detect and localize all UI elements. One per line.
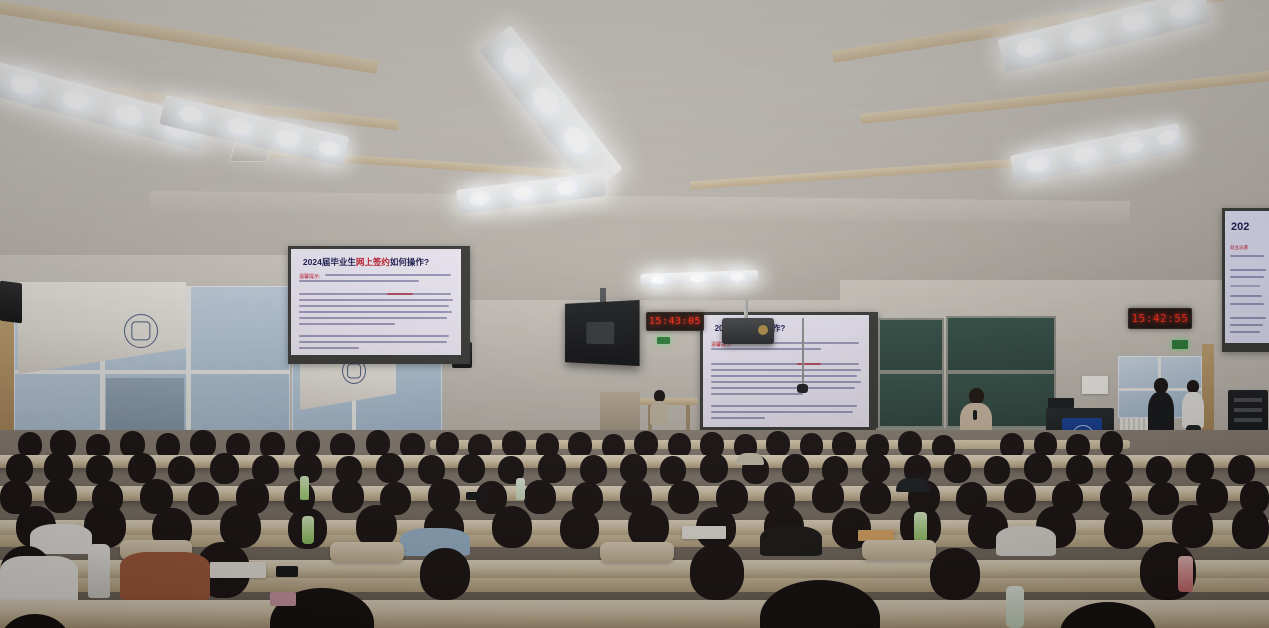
clock-time: 15:43:05 (649, 316, 701, 327)
av-rack-slot (1234, 398, 1262, 402)
slide-red-note: 温馨提示: (299, 273, 320, 280)
hanging-mic (797, 384, 808, 393)
slide-title: 202 (1231, 221, 1267, 233)
wall-speaker (0, 281, 22, 324)
av-rack-slot (1234, 418, 1262, 422)
hanging-cable (802, 318, 804, 388)
front-table (640, 398, 698, 405)
ceiling-light-fixture (455, 164, 609, 226)
front-left-led-clock: 15:43:05 (646, 312, 704, 331)
chalkboard-panel (878, 372, 944, 428)
slide-title-suffix: 如何操作? (390, 257, 429, 267)
left-projection-screen[interactable]: 2024届毕业生网上签约如何操作? 温馨提示: (291, 249, 461, 355)
slide-title: 2024届毕业生网上签约如何操作? (303, 257, 453, 267)
baseball-cap (896, 478, 930, 492)
water-bottle (1006, 586, 1024, 628)
lecture-hall-photo: 2024届毕业生网上签约如何操作? 温馨提示: (0, 0, 1269, 628)
chalkboard-panel (946, 316, 1056, 372)
phone[interactable] (270, 592, 296, 606)
audience-row-nearest (0, 560, 1269, 628)
slide-red-note: 就业派遣 (1230, 245, 1248, 251)
water-bottle (300, 476, 309, 500)
wall-notice (1082, 376, 1108, 394)
podium-monitor (1048, 398, 1074, 408)
phone[interactable] (466, 492, 482, 500)
exit-sign (1172, 340, 1188, 349)
exit-sign (657, 337, 670, 344)
water-bottle (516, 478, 525, 500)
slide-title-prefix: 2024 (303, 257, 322, 267)
av-rack-slot (1234, 408, 1262, 412)
seated-person-front (650, 390, 668, 426)
chalkboard-panel (878, 318, 944, 372)
projector-lens-icon (758, 325, 768, 335)
right-screen-frame: 202 就业派遣 (1222, 208, 1269, 352)
baseball-cap (736, 453, 764, 465)
monitor-mount-plate (586, 322, 614, 345)
front-right-led-clock: 15:42:55 (1128, 308, 1192, 329)
ceiling-light-fixture (640, 266, 761, 292)
left-screen-frame: 2024届毕业生网上签约如何操作? 温馨提示: (288, 246, 470, 364)
slide-title-highlight: 网上签约 (356, 257, 390, 267)
university-seal-icon (124, 314, 158, 348)
right-projection-screen[interactable]: 202 就业派遣 (1225, 211, 1269, 343)
slide-title-main: 届毕业生 (322, 257, 356, 267)
window-mullion (14, 370, 290, 374)
clock-time: 15:42:55 (1132, 312, 1189, 325)
presenter-microphone (973, 410, 977, 420)
